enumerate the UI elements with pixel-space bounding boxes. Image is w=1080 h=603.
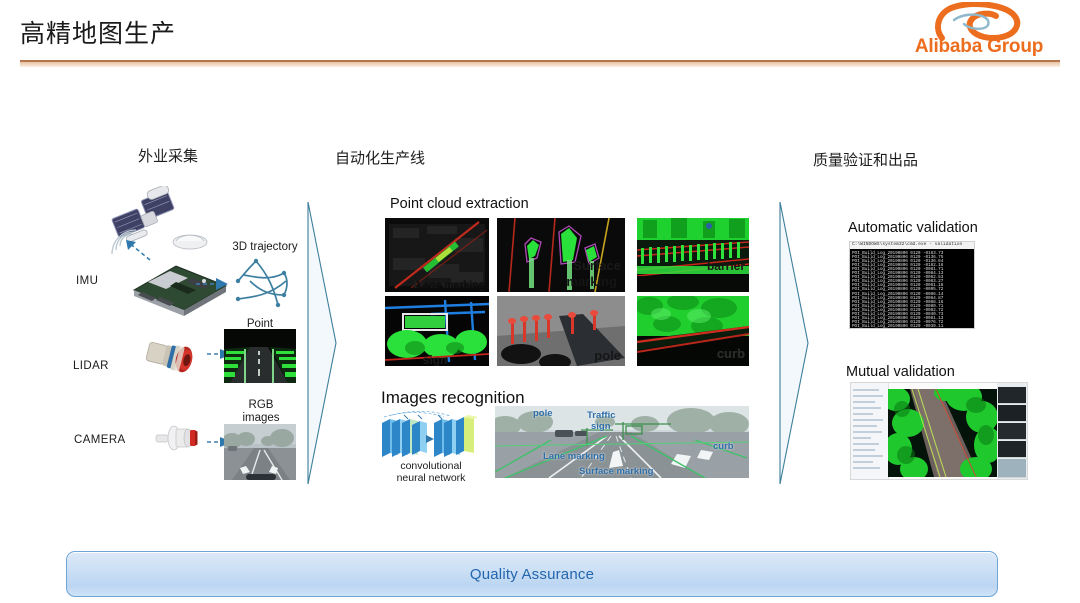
svg-text:marking: marking (566, 274, 617, 289)
alibaba-group-logo: Alibaba Group (884, 2, 1074, 60)
annotated-road-image: pole Traffic sign curb Lane marking Surf… (495, 406, 749, 478)
section-heading-automated-pipeline: 自动化生产线 (335, 147, 425, 168)
annotation-label-sign: sign (591, 421, 611, 432)
svg-text:pole: pole (594, 348, 621, 363)
arrow-imu-to-trajectory (196, 276, 230, 297)
cnn-layers-icon (378, 409, 484, 466)
arrow-imu-to-satellite (114, 232, 154, 269)
heading-automatic-validation: Automatic validation (848, 220, 978, 236)
thumbnail-lane-marking: Lane marking Lane marking (385, 218, 489, 292)
thumbnail-barrier: barrier barrier (637, 218, 749, 292)
thumbnail-label-lane-marking: Lane marking (417, 279, 485, 291)
annotation-label-lane-marking: Lane marking (543, 451, 605, 462)
console-log-line: POI_Build_Log_20190806 0120 -0039.11 (852, 324, 943, 329)
thumbnail-rgb-road (224, 424, 296, 480)
console-title-text: C:\WINDOWS\system32\cmd.exe - validation (852, 242, 962, 247)
trajectory-curves-icon (226, 255, 306, 316)
caption-rgb-line2: images (242, 412, 279, 424)
quality-assurance-label: Quality Assurance (67, 552, 997, 596)
thumbnail-pole: pole pole (497, 296, 625, 366)
section-heading-quality-validation: 质量验证和出品 (813, 149, 918, 170)
caption-cnn: convolutional neural network (375, 460, 487, 484)
svg-text:barrier: barrier (707, 259, 745, 273)
sensor-label-camera: CAMERA (74, 434, 126, 446)
sensor-label-lidar: LIDAR (73, 360, 109, 372)
thumbnail-sign: sign sign (385, 296, 489, 366)
thumbnail-point-cloud-road (224, 329, 296, 383)
thumbnail-surface-marking: Surface marking Surface marking (497, 218, 625, 292)
annotation-label-surface-marking: Surface marking (579, 466, 653, 477)
heading-images-recognition: Images recognition (381, 388, 525, 408)
caption-cnn-line1: convolutional (400, 460, 461, 472)
thumbnail-curb: curb curb curb (637, 296, 749, 366)
divider-chevron-left (306, 198, 340, 488)
caption-rgb-images: RGB images (226, 399, 296, 425)
title-rule-light (20, 62, 1060, 67)
logo-text: Alibaba Group (884, 36, 1074, 58)
quality-assurance-bar[interactable]: Quality Assurance (66, 551, 998, 597)
divider-chevron-right (778, 198, 812, 488)
section-heading-field-collection: 外业采集 (138, 145, 198, 166)
annotation-label-traffic: Traffic (587, 410, 616, 421)
annotation-label-curb: curb (713, 441, 734, 452)
viewer-sidebar-panel (851, 383, 889, 479)
annotation-label-pole: pole (533, 408, 553, 419)
page-title: 高精地图生产 (20, 14, 176, 50)
caption-rgb-line1: RGB (249, 399, 274, 411)
camera-icon (152, 420, 206, 461)
lidar-sensor-icon (143, 336, 205, 385)
heading-point-cloud-extraction: Point cloud extraction (390, 196, 529, 212)
viewer-point-cloud-canvas (888, 389, 997, 477)
automatic-validation-console: C:\WINDOWS\system32\cmd.exe - validation… (849, 241, 975, 329)
svg-text:Surface: Surface (573, 258, 621, 273)
heading-mutual-validation: Mutual validation (846, 364, 955, 380)
svg-text:curb: curb (717, 346, 745, 361)
slide-canvas: 高精地图生产 Alibaba Group 外业采集 自动化生产线 质量验证和出品 (0, 0, 1080, 603)
mutual-validation-viewer (850, 382, 1028, 480)
console-title-bar: C:\WINDOWS\system32\cmd.exe - validation (850, 242, 974, 249)
caption-cnn-line2: neural network (397, 472, 466, 484)
sensor-label-imu: IMU (76, 275, 98, 287)
svg-text:sign: sign (423, 353, 448, 366)
caption-3d-trajectory: 3D trajectory (225, 241, 305, 254)
viewer-thumbnail-strip (997, 383, 1027, 479)
